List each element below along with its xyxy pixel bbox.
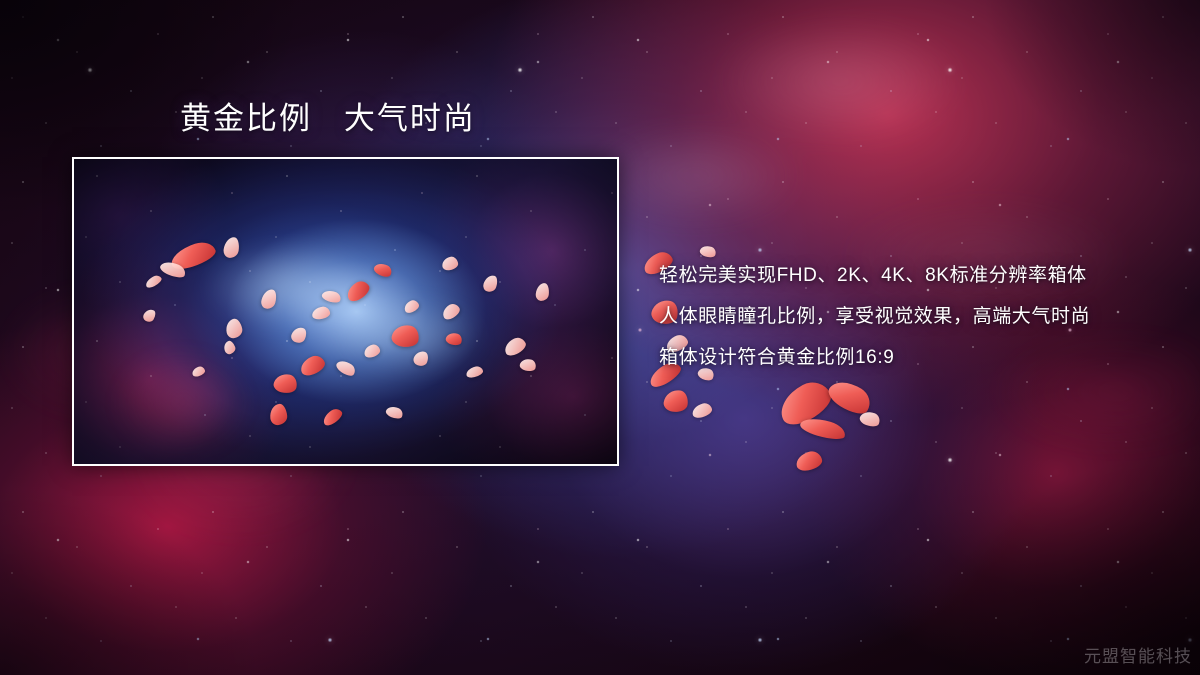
preview-vignette	[74, 159, 617, 464]
description-line-3: 箱体设计符合黄金比例16:9	[659, 337, 1159, 378]
product-preview-frame	[72, 157, 619, 466]
feature-description-block: 轻松完美实现FHD、2K、4K、8K标准分辨率箱体 人体眼睛瞳孔比例，享受视觉效…	[659, 255, 1159, 378]
presentation-slide: 黄金比例 大气时尚 轻松完美实现FHD、2K、4K、8K标准分辨率箱体 人体眼睛…	[0, 0, 1200, 675]
company-watermark: 元盟智能科技	[1084, 642, 1192, 667]
slide-title: 黄金比例 大气时尚	[180, 100, 476, 139]
description-line-1: 轻松完美实现FHD、2K、4K、8K标准分辨率箱体	[659, 255, 1159, 296]
description-line-2: 人体眼睛瞳孔比例，享受视觉效果，高端大气时尚	[659, 296, 1159, 337]
